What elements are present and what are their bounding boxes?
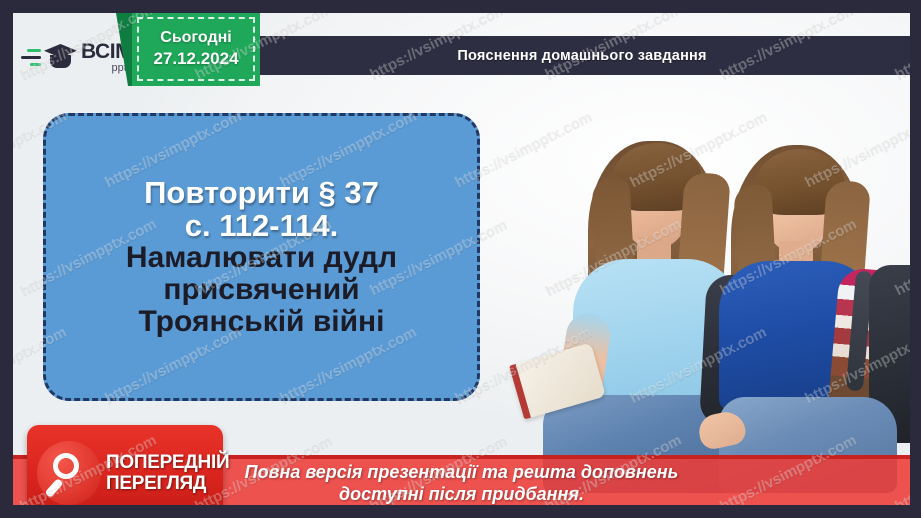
homework-line-3: Намалювати дудл xyxy=(126,242,397,274)
preview-badge-line-2: ПЕРЕГЛЯД xyxy=(106,474,229,493)
homework-box: Повторити § 37 с. 112-114. Намалювати ду… xyxy=(43,113,480,401)
speed-lines-icon xyxy=(19,42,41,72)
logo: ВСІМ pptx xyxy=(13,31,133,83)
purchase-notice-line-2: доступні після придбання. xyxy=(339,484,584,505)
date-label: Сьогодні xyxy=(160,29,231,47)
slide-inner: Пояснення домашнього завдання ВСІМ pptx … xyxy=(13,13,910,505)
homework-line-2: с. 112-114. xyxy=(185,209,338,242)
slide: Пояснення домашнього завдання ВСІМ pptx … xyxy=(0,0,921,518)
homework-line-4: присвячений xyxy=(163,274,359,306)
date-badge: Сьогодні 27.12.2024 xyxy=(132,13,260,86)
preview-badge[interactable]: ПОПЕРЕДНІЙ ПЕРЕГЛЯД xyxy=(27,425,223,505)
date-badge-inner: Сьогодні 27.12.2024 xyxy=(137,17,255,81)
date-value: 27.12.2024 xyxy=(153,49,238,69)
graduation-cap-icon xyxy=(44,41,78,73)
header-bar: Пояснення домашнього завдання xyxy=(254,36,910,75)
preview-badge-text: ПОПЕРЕДНІЙ ПЕРЕГЛЯД xyxy=(106,453,229,493)
purchase-notice-line-1: Повна версія презентації та решта доповн… xyxy=(245,462,679,484)
homework-line-1: Повторити § 37 xyxy=(144,176,379,209)
homework-line-5: Троянській війні xyxy=(139,306,385,338)
magnifier-icon xyxy=(37,441,101,505)
page-title: Пояснення домашнього завдання xyxy=(457,48,706,64)
preview-badge-line-1: ПОПЕРЕДНІЙ xyxy=(106,453,229,472)
